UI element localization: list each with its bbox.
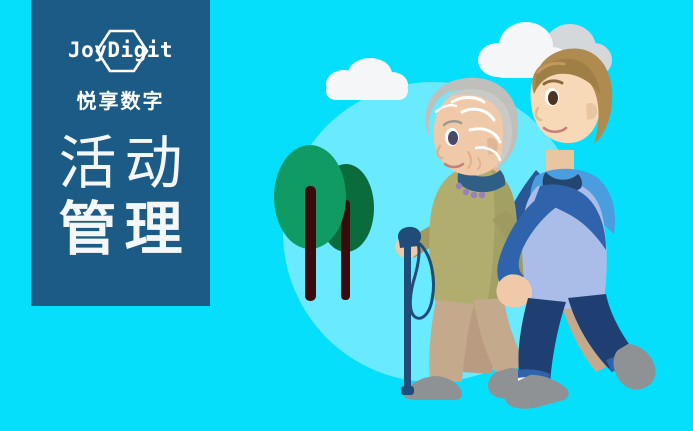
- brand-name-cn: 悦享数字: [31, 85, 210, 114]
- page-title-line-2: 管理: [31, 196, 210, 262]
- brand-logo: JoyDigit 悦享数字: [31, 28, 210, 114]
- brand-panel: JoyDigit 悦享数字 活动 管理: [31, 0, 210, 306]
- poster-canvas: JoyDigit 悦享数字 活动 管理: [0, 0, 693, 431]
- logo-mark: JoyDigit: [46, 28, 196, 74]
- page-title: 活动 管理: [31, 130, 210, 262]
- brand-name: JoyDigit: [46, 39, 196, 61]
- page-title-line-1: 活动: [31, 130, 210, 196]
